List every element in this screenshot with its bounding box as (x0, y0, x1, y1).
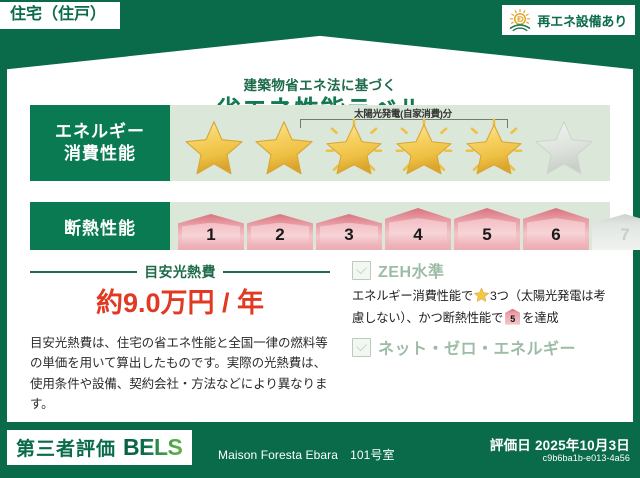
zeh-desc-part1: エネルギー消費性能で (352, 289, 473, 303)
mini-star-icon (474, 287, 489, 309)
star-1-filled (180, 117, 248, 179)
evaluation-date: 評価日 2025年10月3日 (490, 434, 630, 454)
insulation-badge-1: 1 (178, 214, 244, 250)
insulation-label-text: 断熱性能 (64, 214, 136, 239)
bels-certification-chip: 第三者評価 BELS (7, 430, 192, 465)
energy-label-line1: エネルギー (55, 121, 145, 143)
energy-performance-row: エネルギー 消費性能 太陽光発電(自家消費)分 (30, 105, 610, 181)
estimated-utility-cost-heading: 目安光熱費 (30, 262, 330, 282)
checkbox-unchecked-icon[interactable] (352, 338, 371, 357)
energy-star-rating (170, 117, 610, 179)
zeh-criteria-block: ZEH水準 エネルギー消費性能で3つ（太陽光発電は考慮しない）、かつ断熱性能で5… (352, 258, 610, 359)
solar-sun-icon (507, 8, 533, 32)
insulation-grade-scale: 1 2 3 4 5 (178, 202, 606, 250)
building-name: Maison Foresta Ebara (218, 448, 338, 462)
evaluation-id: c9b6ba1b-e013-4a56 (543, 453, 630, 463)
net-zero-energy-row: ネット・ゼロ・エネルギー (352, 335, 610, 359)
room-number: 101号室 (350, 448, 395, 462)
zeh-standard-description: エネルギー消費性能で3つ（太陽光発電は考慮しない）、かつ断熱性能で5を達成 (352, 287, 610, 328)
energy-performance-label: エネルギー 消費性能 (30, 105, 170, 181)
insulation-badge-2-number: 2 (275, 225, 284, 250)
insulation-badge-4-number: 4 (413, 225, 422, 250)
star-4-filled-solar (390, 117, 458, 179)
building-info: Maison Foresta Ebara101号室 (218, 446, 395, 463)
insulation-badge-2: 2 (247, 214, 313, 250)
estimated-utility-cost-value: 約9.0万円 / 年 (30, 281, 330, 320)
insulation-performance-body: 1 2 3 4 5 (170, 202, 610, 250)
insulation-badge-3-number: 3 (344, 225, 353, 250)
insulation-badge-1-number: 1 (206, 225, 215, 250)
insulation-badge-4: 4 (385, 208, 451, 250)
renewable-equipment-chip: 再エネ設備あり (502, 5, 635, 35)
energy-performance-body: 太陽光発電(自家消費)分 (170, 105, 610, 181)
category-chip: 住宅（住戸） (0, 2, 120, 29)
mini-badge-number: 5 (505, 309, 520, 325)
heading-rule-left (30, 271, 137, 273)
mini-insulation-badge-icon: 5 (505, 309, 520, 325)
star-5-filled-solar (460, 117, 528, 179)
insulation-badge-5: 5 (454, 208, 520, 250)
estimated-utility-cost-note: 目安光熱費は、住宅の省エネ性能と全国一律の燃料等の単価を用いて算出したものです。… (30, 333, 332, 414)
category-chip-label: 住宅（住戸） (10, 6, 106, 23)
insulation-badge-3: 3 (316, 214, 382, 250)
checkbox-unchecked-icon[interactable] (352, 261, 371, 280)
star-6-empty (530, 117, 598, 179)
bels-logo-text: BELS (123, 434, 182, 461)
star-3-filled-solar (320, 117, 388, 179)
insulation-badge-5-number: 5 (482, 225, 491, 250)
zeh-standard-row: ZEH水準 (352, 258, 610, 282)
zeh-standard-label: ZEH水準 (378, 258, 445, 282)
estimated-utility-cost-title: 目安光熱費 (144, 262, 216, 282)
insulation-performance-label: 断熱性能 (30, 202, 170, 250)
insulation-badge-7: 7 (592, 214, 640, 250)
net-zero-energy-label: ネット・ゼロ・エネルギー (378, 335, 576, 359)
renewable-chip-label: 再エネ設備あり (537, 11, 627, 30)
star-2-filled (250, 117, 318, 179)
insulation-badge-6-number: 6 (551, 225, 560, 250)
footer-bar: 第三者評価 BELS Maison Foresta Ebara101号室 評価日… (0, 422, 640, 478)
house-badge-shape (592, 214, 640, 250)
zeh-desc-part3: を達成 (522, 311, 558, 325)
bels-energy-label: 住宅（住戸） (0, 0, 640, 478)
heading-rule-right (223, 271, 330, 273)
energy-label-line2: 消費性能 (64, 143, 136, 165)
insulation-badge-7-number: 7 (620, 225, 629, 250)
insulation-performance-row: 断熱性能 1 2 3 4 (30, 202, 610, 250)
insulation-badge-6: 6 (523, 208, 589, 250)
third-party-eval-label: 第三者評価 (16, 434, 116, 461)
